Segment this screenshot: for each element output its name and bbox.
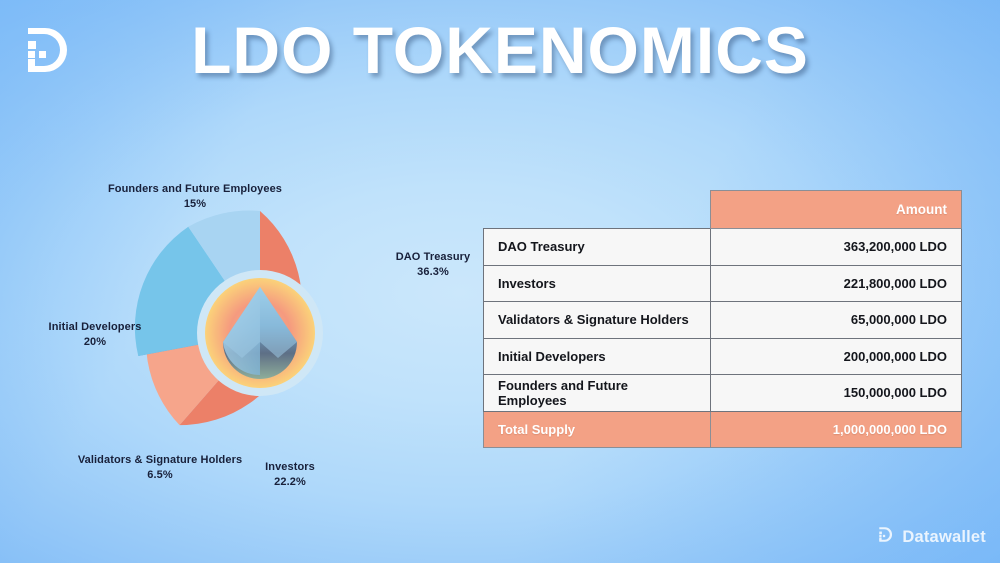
row-amount: 65,000,000 LDO xyxy=(711,302,962,339)
pie-label-founders-pct: 15% xyxy=(50,197,340,212)
table-header-name xyxy=(484,191,711,229)
row-name: Founders and Future Employees xyxy=(484,375,711,412)
row-name: Investors xyxy=(484,265,711,302)
footer-brand-name: Datawallet xyxy=(902,528,986,547)
table-row: Investors 221,800,000 LDO xyxy=(484,265,962,302)
total-amount: 1,000,000,000 LDO xyxy=(711,411,962,448)
table-row: Validators & Signature Holders 65,000,00… xyxy=(484,302,962,339)
row-name: Validators & Signature Holders xyxy=(484,302,711,339)
pie-label-initial-developers-pct: 20% xyxy=(5,335,185,350)
pie-label-dao-treasury-name: DAO Treasury xyxy=(396,251,471,263)
row-amount: 221,800,000 LDO xyxy=(711,265,962,302)
table-header-amount: Amount xyxy=(711,191,962,229)
table-row: Founders and Future Employees 150,000,00… xyxy=(484,375,962,412)
footer-brand: Datawallet xyxy=(876,525,986,549)
total-label: Total Supply xyxy=(484,411,711,448)
row-name: Initial Developers xyxy=(484,338,711,375)
datawallet-d-logo-icon xyxy=(876,525,895,549)
table-total-row: Total Supply 1,000,000,000 LDO xyxy=(484,411,962,448)
table-row: Initial Developers 200,000,000 LDO xyxy=(484,338,962,375)
pie-label-investors: Investors 22.2% xyxy=(210,460,370,490)
row-name: DAO Treasury xyxy=(484,229,711,266)
page-title: LDO TOKENOMICS xyxy=(0,12,1000,88)
table-row: DAO Treasury 363,200,000 LDO xyxy=(484,229,962,266)
table-header-row: Amount xyxy=(484,191,962,229)
row-amount: 150,000,000 LDO xyxy=(711,375,962,412)
pie-label-initial-developers: Initial Developers 20% xyxy=(5,320,185,350)
tokenomics-donut-chart: Founders and Future Employees 15% Initia… xyxy=(10,170,480,500)
row-amount: 200,000,000 LDO xyxy=(711,338,962,375)
row-amount: 363,200,000 LDO xyxy=(711,229,962,266)
pie-label-initial-developers-name: Initial Developers xyxy=(49,321,142,333)
tokenomics-table: Amount DAO Treasury 363,200,000 LDO Inve… xyxy=(483,190,961,448)
pie-label-founders: Founders and Future Employees 15% xyxy=(50,182,340,212)
pie-label-investors-pct: 22.2% xyxy=(210,475,370,490)
pie-label-investors-name: Investors xyxy=(265,461,315,473)
pie-label-founders-name: Founders and Future Employees xyxy=(108,183,282,195)
